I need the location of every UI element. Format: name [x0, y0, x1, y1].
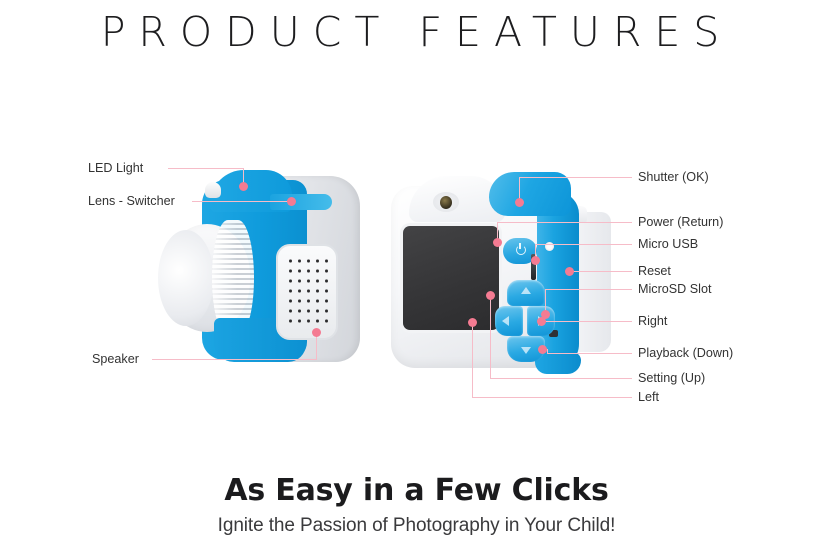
dpad-up-setting-button[interactable] [507, 280, 545, 306]
callout-label-microsd-slot: MicroSD Slot [638, 283, 711, 296]
callout-dot-setting [486, 291, 495, 300]
callout-line-right [542, 321, 632, 322]
callout-line-power-h [497, 222, 632, 223]
camera-rear-view-illustration [385, 170, 620, 380]
callout-label-speaker: Speaker [92, 353, 139, 366]
product-features-page: PRODUCT FEATURES [0, 0, 833, 555]
callout-label-micro-usb: Micro USB [638, 238, 698, 251]
callout-line-led-light-h [168, 168, 244, 169]
callout-label-left: Left [638, 391, 659, 404]
callout-dot-power [493, 238, 502, 247]
callout-label-setting: Setting (Up) [638, 372, 705, 385]
tagline: As Easy in a Few Clicks [0, 473, 833, 508]
callout-label-reset: Reset [638, 265, 671, 278]
page-title: PRODUCT FEATURES [0, 8, 833, 56]
lens-switcher-tab [270, 194, 332, 210]
sub-tagline: Ignite the Passion of Photography in You… [0, 515, 833, 537]
callout-dot-lens-switcher [287, 197, 296, 206]
callout-label-led-light: LED Light [88, 162, 143, 175]
callout-line-speaker-h [152, 359, 317, 360]
callout-dot-speaker [312, 328, 321, 337]
callout-label-playback: Playback (Down) [638, 347, 733, 360]
dpad-left-button[interactable] [495, 306, 523, 336]
callout-line-playback-h [547, 353, 632, 354]
callout-dot-reset [565, 267, 574, 276]
callout-dot-left [468, 318, 477, 327]
callout-dot-micro-usb [531, 256, 540, 265]
callout-line-micro-usb-h [535, 244, 632, 245]
callout-dot-playback [538, 345, 547, 354]
speaker-panel [276, 244, 338, 340]
callout-line-shutter-h [519, 177, 632, 178]
callout-line-speaker-v [316, 336, 317, 360]
callout-label-shutter: Shutter (OK) [638, 171, 709, 184]
callout-label-power: Power (Return) [638, 216, 723, 229]
callout-label-right: Right [638, 315, 667, 328]
callout-line-left-h [472, 397, 632, 398]
callout-dot-right [537, 317, 546, 326]
callout-line-setting-h [490, 378, 632, 379]
selfie-lens [440, 196, 452, 209]
callout-line-microsd-h [545, 289, 632, 290]
callout-line-playback-v [547, 349, 548, 354]
callout-dot-shutter [515, 198, 524, 207]
callout-line-lens-switcher [192, 201, 292, 202]
callout-line-setting-v [490, 295, 491, 379]
lens-front-face [158, 230, 214, 326]
speaker-grille-dots [286, 256, 328, 328]
lcd-screen [403, 226, 499, 330]
camera-side-view-illustration [150, 168, 375, 368]
callout-label-lens-switcher: Lens - Switcher [88, 195, 175, 208]
camera-blue-top-strap [489, 172, 571, 216]
callout-line-left-v [472, 322, 473, 398]
callout-dot-led-light [239, 182, 248, 191]
led-light-nub [205, 182, 221, 198]
callout-line-reset [570, 271, 632, 272]
